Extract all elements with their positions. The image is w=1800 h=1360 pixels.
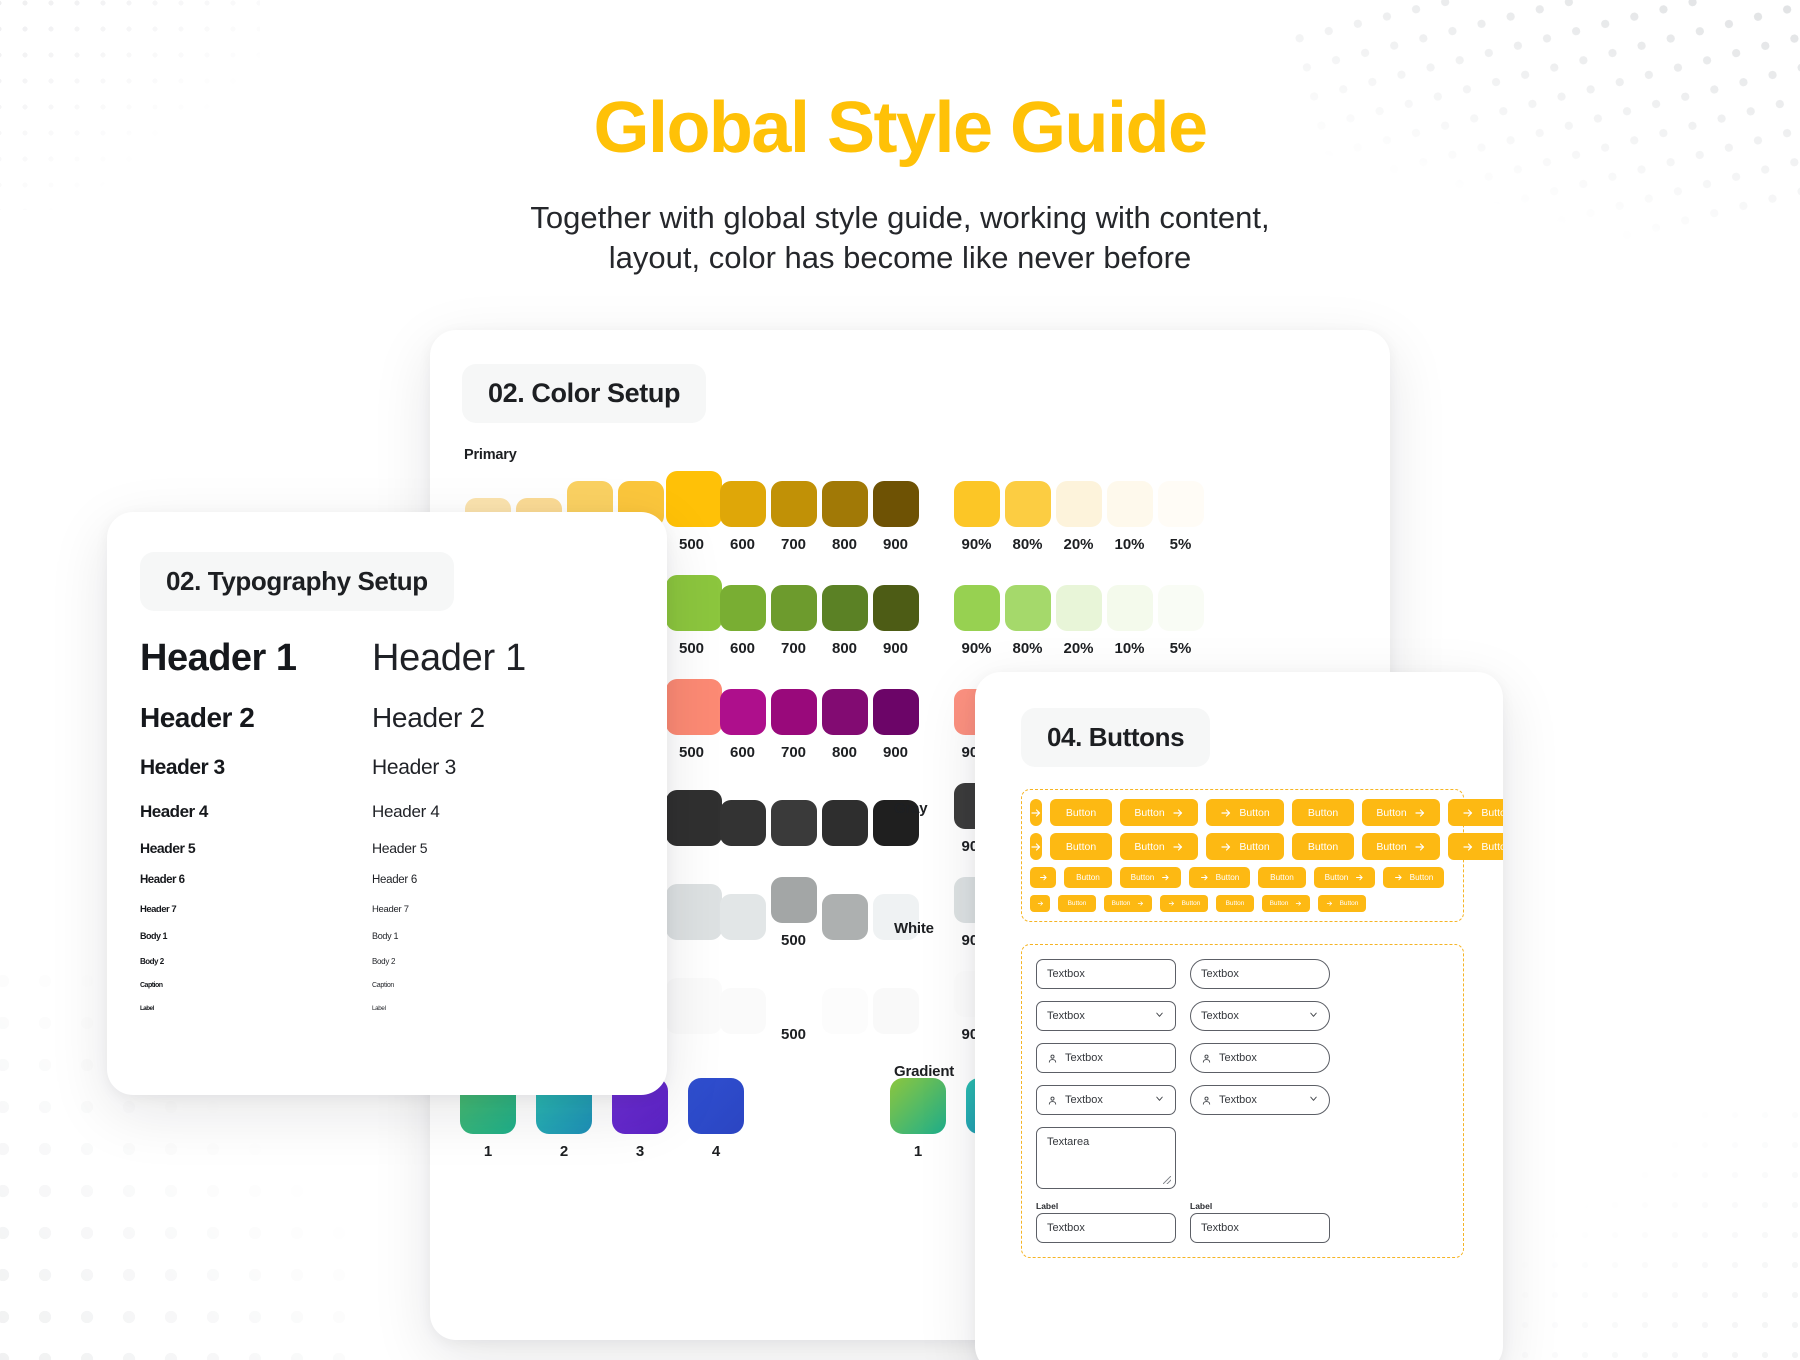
color-swatch[interactable]: 500 [666, 575, 717, 657]
color-swatch[interactable] [819, 800, 870, 855]
gradient-label: 4 [688, 1143, 744, 1160]
button-label: Button [1481, 807, 1503, 819]
button-label: Button [1376, 807, 1406, 819]
chevron-down-icon [1308, 1093, 1319, 1104]
decorative-dots-bottom-right [1480, 1100, 1800, 1360]
typography-sample-regular: Body 1 [372, 931, 398, 941]
button-label-then-icon[interactable]: Button [1314, 867, 1375, 888]
typography-row: LabelLabel [140, 1005, 667, 1012]
button-label: Button [1239, 807, 1269, 819]
typography-sample-bold: Label [140, 1005, 372, 1012]
textbox-value: Textbox [1201, 1222, 1319, 1234]
arrow-right-icon [1355, 873, 1364, 882]
swatch-color-chip [720, 481, 766, 527]
swatch-label: 900 [870, 536, 921, 553]
textbox-field[interactable]: Textbox [1190, 959, 1330, 989]
button-label-then-icon[interactable]: Button [1120, 833, 1198, 860]
arrow-right-icon [1168, 900, 1175, 907]
typography-row: Body 1Body 1 [140, 931, 667, 941]
button-label: Button [1308, 841, 1338, 853]
typography-row: Header 4Header 4 [140, 802, 667, 822]
button-label-only[interactable]: Button [1050, 799, 1112, 826]
button-row: ButtonButtonButtonButtonButtonButton [1030, 867, 1455, 888]
button-label: Button [1376, 841, 1406, 853]
swatch-color-chip [873, 481, 919, 527]
color-swatch[interactable]: 10% [1104, 481, 1155, 553]
swatch-color-chip [1005, 481, 1051, 527]
button-label: Button [1308, 807, 1338, 819]
typography-sample-regular: Header 6 [372, 874, 417, 886]
swatch-label: 5% [1155, 640, 1206, 657]
button-label-then-icon[interactable]: Button [1120, 867, 1181, 888]
swatch-label: 90% [951, 640, 1002, 657]
swatch-color-chip [1056, 585, 1102, 631]
typography-sample-regular: Body 2 [372, 957, 395, 966]
swatch-color-chip [1107, 481, 1153, 527]
swatch-color-chip [666, 679, 722, 735]
swatch-color-chip [822, 689, 868, 735]
button-label: Button [1066, 841, 1096, 853]
swatch-color-chip [666, 471, 722, 527]
button-variants-group: ButtonButtonButtonButtonButtonButtonButt… [1021, 789, 1464, 922]
textbox-field[interactable]: Textbox [1036, 1043, 1176, 1073]
swatch-color-chip [666, 575, 722, 631]
chevron-down-icon [1154, 1093, 1165, 1104]
color-swatch[interactable]: 700 [768, 585, 819, 657]
gradient-chip [890, 1078, 946, 1134]
field-label: Label [1190, 1201, 1330, 1211]
gradient-swatch[interactable]: 4 [688, 1078, 744, 1160]
swatch-color-chip [1056, 481, 1102, 527]
color-swatch[interactable]: 5% [1155, 585, 1206, 657]
gradient-swatch[interactable]: 1 [890, 1078, 946, 1160]
color-swatch[interactable]: 500 [768, 877, 819, 949]
button-row: ButtonButtonButtonButtonButtonButton [1030, 895, 1455, 912]
typography-sample-bold: Header 6 [140, 874, 372, 886]
color-swatch[interactable]: 600 [717, 689, 768, 761]
color-swatch[interactable]: 500 [666, 679, 717, 761]
typography-sample-bold: Caption [140, 982, 372, 989]
button-label-then-icon[interactable]: Button [1362, 833, 1440, 860]
textbox-value: Textbox [1201, 1010, 1301, 1022]
dropdown-chevron[interactable] [1308, 1093, 1319, 1107]
button-label-then-icon[interactable]: Button [1120, 799, 1198, 826]
button-label: Button [1270, 873, 1294, 882]
textbox-field[interactable]: Textbox [1190, 1001, 1330, 1031]
swatch-color-chip [720, 585, 766, 631]
typography-row: CaptionCaption [140, 982, 667, 989]
arrow-right-icon [1462, 807, 1474, 819]
swatch-color-chip [822, 585, 868, 631]
swatch-label: 500 [666, 640, 717, 657]
page-subtitle: Together with global style guide, workin… [0, 198, 1800, 277]
typography-row: Header 1Header 1 [140, 637, 667, 680]
swatch-label: 500 [768, 932, 819, 949]
user-icon [1201, 1053, 1212, 1064]
typography-sample-regular: Header 5 [372, 840, 427, 856]
color-swatch[interactable] [768, 800, 819, 855]
buttons-card: 04. Buttons ButtonButtonButtonButtonButt… [975, 672, 1503, 1360]
color-swatch[interactable]: 500 [666, 471, 717, 553]
color-swatch[interactable] [717, 988, 768, 1043]
button-label: Button [1270, 900, 1289, 907]
textbox-field[interactable]: Textbox [1190, 1213, 1330, 1243]
buttons-heading: 04. Buttons [1021, 708, 1210, 767]
typography-sample-regular: Header 7 [372, 904, 409, 915]
swatch-label: 900 [870, 744, 921, 761]
textbox-value: Textbox [1219, 1094, 1301, 1106]
textarea-wrapper: Textarea [1036, 1127, 1176, 1189]
textarea-placeholder: Textarea [1047, 1136, 1089, 1148]
swatch-color-chip [666, 790, 722, 846]
textbox-value: Textbox [1065, 1094, 1147, 1106]
button-label: Button [1239, 841, 1269, 853]
arrow-right-icon [1172, 807, 1184, 819]
arrow-right-icon [1394, 873, 1403, 882]
swatch-label: 500 [666, 536, 717, 553]
swatch-label: 5% [1155, 536, 1206, 553]
button-label-only[interactable]: Button [1292, 799, 1354, 826]
textbox-value: Textbox [1065, 1052, 1165, 1064]
gradient-chip [688, 1078, 744, 1134]
typography-sample-regular: Label [372, 1005, 386, 1012]
typography-setup-card: 02. Typography Setup Header 1Header 1Hea… [107, 512, 667, 1095]
button-icon-only[interactable] [1030, 799, 1042, 826]
color-swatch[interactable]: 20% [1053, 585, 1104, 657]
white-section-label: White [894, 920, 934, 937]
swatch-label: 10% [1104, 640, 1155, 657]
button-icon-then-label[interactable]: Button [1448, 799, 1503, 826]
swatch-color-chip [873, 988, 919, 1034]
arrow-right-icon [1414, 841, 1426, 853]
button-icon-then-label[interactable]: Button [1206, 833, 1284, 860]
color-swatch[interactable]: 900 [870, 689, 921, 761]
typography-sample-bold: Body 1 [140, 931, 372, 941]
typography-sample-bold: Header 3 [140, 756, 372, 780]
swatch-label: 700 [768, 640, 819, 657]
swatch-color-chip [822, 894, 868, 940]
typography-setup-heading: 02. Typography Setup [140, 552, 454, 611]
button-label-then-icon[interactable]: Button [1104, 895, 1152, 912]
typography-sample-regular: Header 3 [372, 756, 456, 780]
button-icon-only[interactable] [1030, 833, 1042, 860]
user-icon [1047, 1095, 1058, 1106]
color-group-label: Primary [464, 447, 1390, 463]
page-title: Global Style Guide [0, 92, 1800, 164]
color-swatch[interactable]: 80% [1002, 481, 1053, 553]
field-label: Label [1036, 1201, 1176, 1211]
typography-row: Header 3Header 3 [140, 756, 667, 780]
arrow-right-icon [1220, 807, 1232, 819]
swatch-color-chip [873, 689, 919, 735]
button-label: Button [1182, 900, 1201, 907]
textarea-field[interactable]: Textarea [1036, 1127, 1176, 1189]
gradient-label: 2 [536, 1143, 592, 1160]
swatch-color-chip [954, 585, 1000, 631]
button-label: Button [1134, 841, 1164, 853]
textbox-field[interactable]: Textbox [1036, 1085, 1176, 1115]
arrow-right-icon [1295, 900, 1302, 907]
button-row: ButtonButtonButtonButtonButtonButton [1030, 799, 1455, 826]
user-icon [1201, 1095, 1212, 1106]
color-swatch[interactable]: 500 [768, 971, 819, 1043]
form-fields-group: TextboxTextboxTextboxTextboxTextboxTextb… [1021, 944, 1464, 1258]
swatch-color-chip [1107, 585, 1153, 631]
swatch-color-chip [822, 988, 868, 1034]
typography-sample-bold: Header 4 [140, 802, 372, 822]
swatch-label: 80% [1002, 536, 1053, 553]
swatch-color-chip [1158, 481, 1204, 527]
arrow-right-icon [1161, 873, 1170, 882]
dropdown-chevron[interactable] [1308, 1009, 1319, 1023]
swatch-color-chip [771, 800, 817, 846]
typography-sample-regular: Header 2 [372, 702, 485, 734]
button-label: Button [1076, 873, 1100, 882]
button-label-only[interactable]: Button [1292, 833, 1354, 860]
swatch-color-chip [954, 481, 1000, 527]
swatch-color-chip [873, 585, 919, 631]
button-icon-only[interactable] [1030, 867, 1056, 888]
button-label: Button [1068, 900, 1087, 907]
labeled-field: LabelTextbox [1036, 1201, 1176, 1243]
swatch-color-chip [1005, 585, 1051, 631]
textbox-field[interactable]: Textbox [1036, 1213, 1176, 1243]
gray-section-label: Gray [894, 800, 927, 817]
gradient-label: 1 [890, 1143, 946, 1160]
user-icon [1047, 1053, 1058, 1064]
swatch-color-chip [666, 978, 722, 1034]
color-swatch[interactable]: 700 [768, 481, 819, 553]
button-label: Button [1410, 873, 1434, 882]
swatch-color-chip [720, 689, 766, 735]
swatch-label: 600 [717, 640, 768, 657]
swatch-label: 800 [819, 640, 870, 657]
button-label: Button [1216, 873, 1240, 882]
swatch-label: 90% [951, 536, 1002, 553]
button-label-then-icon[interactable]: Button [1362, 799, 1440, 826]
button-label-then-icon[interactable]: Button [1262, 895, 1310, 912]
color-swatch[interactable]: 800 [819, 481, 870, 553]
button-icon-then-label[interactable]: Button [1318, 895, 1366, 912]
typography-row: Header 6Header 6 [140, 874, 667, 886]
swatch-label: 20% [1053, 536, 1104, 553]
textbox-value: Textbox [1219, 1052, 1319, 1064]
color-swatch[interactable]: 800 [819, 689, 870, 761]
button-label-only[interactable]: Button [1258, 867, 1306, 888]
button-label: Button [1066, 807, 1096, 819]
color-swatch[interactable]: 900 [870, 585, 921, 657]
color-swatch[interactable]: 600 [717, 481, 768, 553]
button-label: Button [1481, 841, 1503, 853]
hero-section: Global Style Guide Together with global … [0, 0, 1800, 277]
color-swatch[interactable]: 20% [1053, 481, 1104, 553]
button-label-only[interactable]: Button [1050, 833, 1112, 860]
chevron-down-icon [1308, 1009, 1319, 1020]
color-swatch[interactable]: 900 [870, 481, 921, 553]
typography-sample-bold: Body 2 [140, 957, 372, 966]
gradient-label: 3 [612, 1143, 668, 1160]
textbox-field[interactable]: Textbox [1190, 1085, 1330, 1115]
typography-rows-container: Header 1Header 1Header 2Header 2Header 3… [140, 637, 667, 1012]
color-swatch[interactable]: 600 [717, 585, 768, 657]
color-swatch[interactable]: 80% [1002, 585, 1053, 657]
swatch-color-chip [720, 894, 766, 940]
color-swatch[interactable] [666, 790, 717, 855]
textbox-value: Textbox [1047, 1222, 1165, 1234]
button-label: Button [1131, 873, 1155, 882]
swatch-color-chip [771, 481, 817, 527]
typography-row: Header 7Header 7 [140, 904, 667, 915]
button-label: Button [1340, 900, 1359, 907]
swatch-color-chip [720, 800, 766, 846]
swatch-label: 600 [717, 744, 768, 761]
button-label-only[interactable]: Button [1058, 895, 1096, 912]
swatch-color-chip [720, 988, 766, 1034]
typography-sample-regular: Header 1 [372, 637, 526, 680]
swatch-label: 700 [768, 744, 819, 761]
button-icon-then-label[interactable]: Button [1448, 833, 1503, 860]
swatch-label: 600 [717, 536, 768, 553]
arrow-right-icon [1200, 873, 1209, 882]
swatch-label: 500 [768, 1026, 819, 1043]
textbox-value: Textbox [1047, 968, 1165, 980]
typography-row: Body 2Body 2 [140, 957, 667, 966]
color-swatch[interactable]: 90% [951, 585, 1002, 657]
swatch-label: 500 [666, 744, 717, 761]
arrow-right-icon [1172, 841, 1184, 853]
swatch-color-chip [771, 877, 817, 923]
button-row: ButtonButtonButtonButtonButtonButton [1030, 833, 1455, 860]
arrow-right-icon [1414, 807, 1426, 819]
typography-sample-bold: Header 5 [140, 840, 372, 856]
swatch-color-chip [822, 800, 868, 846]
swatch-color-chip [771, 585, 817, 631]
color-setup-heading: 02. Color Setup [462, 364, 706, 423]
swatch-label: 700 [768, 536, 819, 553]
swatch-color-chip [1158, 585, 1204, 631]
button-icon-then-label[interactable]: Button [1206, 799, 1284, 826]
textbox-value: Textbox [1047, 1010, 1147, 1022]
typography-sample-regular: Header 4 [372, 802, 440, 822]
color-swatch[interactable] [717, 894, 768, 949]
subtitle-line-2: layout, color has become like never befo… [0, 238, 1800, 278]
arrow-right-icon [1326, 900, 1333, 907]
swatch-label: 20% [1053, 640, 1104, 657]
typography-sample-bold: Header 7 [140, 904, 372, 915]
color-swatch[interactable] [870, 988, 921, 1043]
button-label: Button [1226, 900, 1245, 907]
chevron-down-icon [1154, 1009, 1165, 1020]
swatch-color-chip [822, 481, 868, 527]
textbox-field[interactable]: Textbox [1036, 959, 1176, 989]
arrow-right-icon [1039, 873, 1048, 882]
color-swatch[interactable] [819, 988, 870, 1043]
color-swatch[interactable]: 700 [768, 689, 819, 761]
color-swatch[interactable]: 10% [1104, 585, 1155, 657]
arrow-right-icon [1220, 841, 1232, 853]
swatch-label: 800 [819, 744, 870, 761]
color-swatch[interactable]: 5% [1155, 481, 1206, 553]
subtitle-line-1: Together with global style guide, workin… [0, 198, 1800, 238]
typography-sample-regular: Caption [372, 982, 394, 989]
arrow-right-icon [1030, 841, 1042, 853]
swatch-color-chip [771, 971, 817, 1017]
labeled-field: LabelTextbox [1190, 1201, 1330, 1243]
button-icon-then-label[interactable]: Button [1160, 895, 1208, 912]
swatch-color-chip [771, 689, 817, 735]
color-swatch[interactable] [666, 978, 717, 1043]
typography-sample-bold: Header 2 [140, 702, 372, 734]
textbox-field[interactable]: Textbox [1190, 1043, 1330, 1073]
button-icon-then-label[interactable]: Button [1189, 867, 1250, 888]
swatch-label: 900 [870, 640, 921, 657]
gradient-label: 1 [460, 1143, 516, 1160]
dropdown-chevron[interactable] [1154, 1093, 1165, 1107]
arrow-right-icon [1137, 900, 1144, 907]
textbox-field[interactable]: Textbox [1036, 1001, 1176, 1031]
button-icon-then-label[interactable]: Button [1383, 867, 1444, 888]
swatch-label: 800 [819, 536, 870, 553]
typography-sample-bold: Header 1 [140, 637, 372, 680]
color-swatch[interactable] [666, 884, 717, 949]
button-label: Button [1134, 807, 1164, 819]
swatch-label: 10% [1104, 536, 1155, 553]
button-label-only[interactable]: Button [1216, 895, 1254, 912]
button-label-only[interactable]: Button [1064, 867, 1112, 888]
color-swatch[interactable]: 800 [819, 585, 870, 657]
arrow-right-icon [1037, 900, 1044, 907]
dropdown-chevron[interactable] [1154, 1009, 1165, 1023]
color-swatch[interactable]: 90% [951, 481, 1002, 553]
color-swatch[interactable] [717, 800, 768, 855]
button-label: Button [1112, 900, 1131, 907]
button-label: Button [1325, 873, 1349, 882]
swatch-color-chip [666, 884, 722, 940]
textbox-value: Textbox [1201, 968, 1319, 980]
arrow-right-icon [1030, 807, 1042, 819]
arrow-right-icon [1462, 841, 1474, 853]
swatch-label: 80% [1002, 640, 1053, 657]
typography-row: Header 5Header 5 [140, 840, 667, 856]
color-swatch[interactable] [819, 894, 870, 949]
typography-row: Header 2Header 2 [140, 702, 667, 734]
button-icon-only[interactable] [1030, 895, 1050, 912]
